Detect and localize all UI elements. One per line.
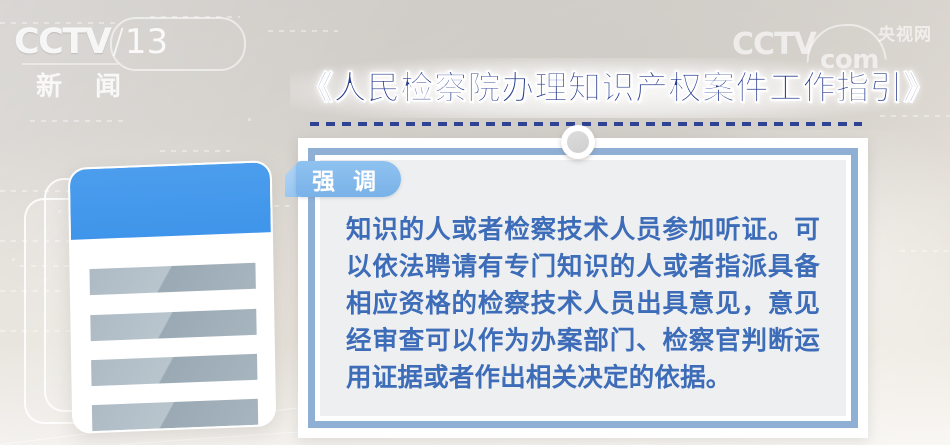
- document-text-line: [90, 263, 256, 295]
- cctvcom-chinese-name: 央视网: [878, 27, 932, 44]
- page-title: 《人民检察院办理知识产权案件工作指引》: [300, 62, 880, 114]
- dashed-divider: [310, 122, 862, 126]
- cctv13-underline: [22, 63, 118, 65]
- cctv13-number: 13: [125, 22, 168, 62]
- circle-knob-ornament: [561, 125, 595, 159]
- document-illustration: [8, 148, 288, 438]
- broadcast-screen: CCTV / 13 新 闻 CCTV com 央视网 《人民检察院办理知识产权案…: [0, 0, 950, 445]
- headline-container: 《人民检察院办理知识产权案件工作指引》: [300, 62, 880, 114]
- document-text-line: [90, 309, 256, 341]
- cctv13-brand: CCTV: [14, 25, 110, 60]
- document-text-line: [91, 354, 257, 386]
- cctv13-channel-logo: CCTV / 13 新 闻: [14, 22, 229, 102]
- content-paragraph: 知识的人或者检察技术人员参加听证。可以依法聘请有专门知识的人或者指派具备相应资格…: [346, 212, 820, 397]
- content-panel-inner: 知识的人或者检察技术人员参加听证。可以依法聘请有专门知识的人或者指派具备相应资格…: [320, 160, 846, 416]
- document-card-header: [70, 162, 271, 240]
- cctv13-slash: /: [112, 22, 123, 62]
- document-text-line: [92, 399, 258, 431]
- cctvcom-brand: CCTV: [732, 30, 816, 60]
- cctv13-subtitle: 新 闻: [36, 66, 133, 103]
- document-card-front: [68, 160, 277, 434]
- emphasis-badge: 强 调: [296, 161, 401, 197]
